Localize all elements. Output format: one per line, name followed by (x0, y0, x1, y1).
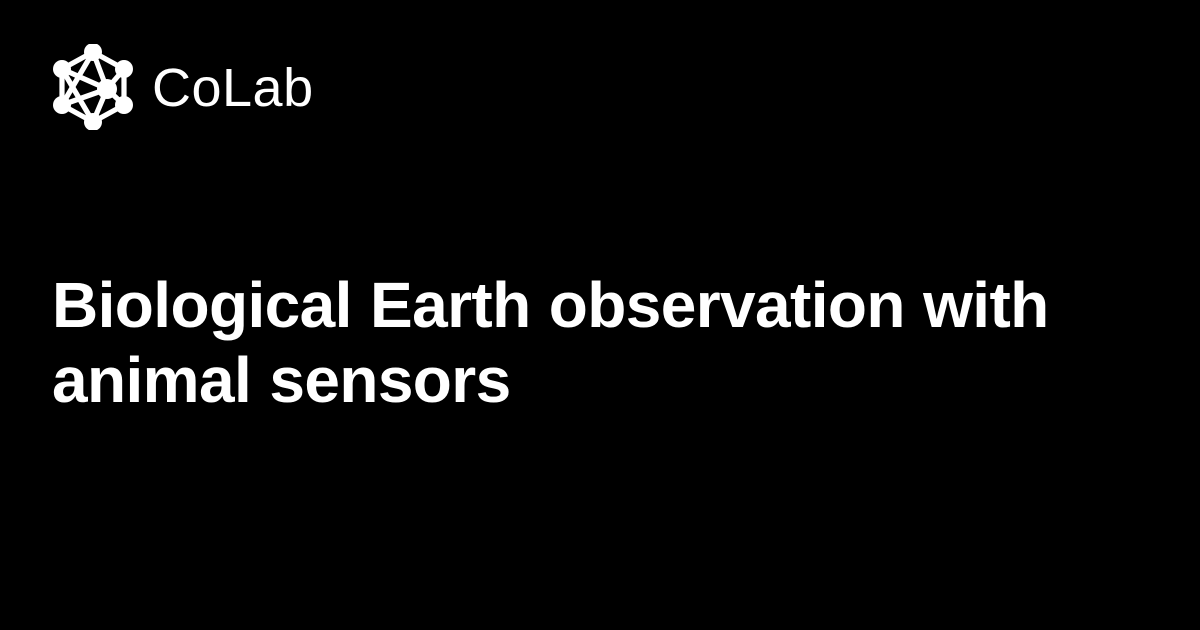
share-card: CoLab Biological Earth observation with … (0, 0, 1200, 630)
brand-wordmark: CoLab (152, 61, 314, 115)
hexagon-node-graph-icon (50, 44, 136, 130)
page-title: Biological Earth observation with animal… (52, 268, 1192, 418)
brand-logo[interactable]: CoLab (50, 44, 314, 130)
